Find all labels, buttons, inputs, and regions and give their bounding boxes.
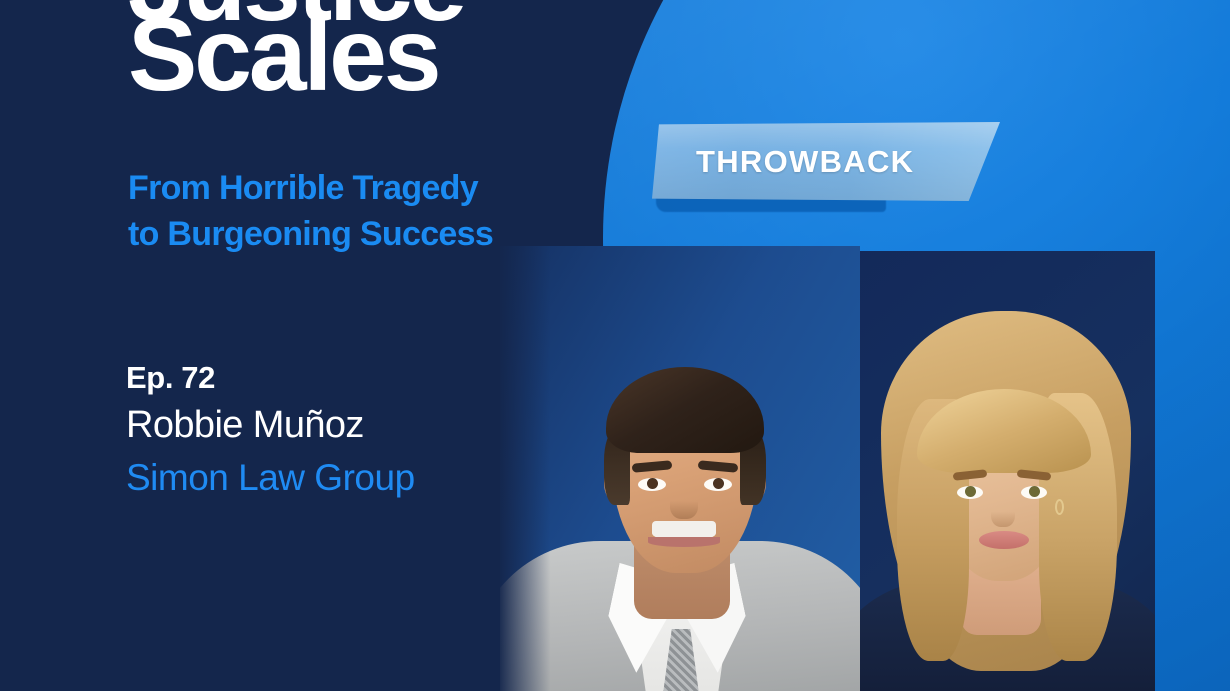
portrait-guest-pupil-right [713, 478, 724, 489]
podcast-episode-cover: Justice Scales From Horrible Tragedy to … [0, 0, 1230, 691]
portrait-cohost-earring [1055, 499, 1064, 515]
portrait-guest-nose [670, 489, 698, 519]
episode-guest-name: Robbie Muñoz [126, 401, 526, 450]
throwback-badge: THROWBACK [652, 122, 1004, 214]
portrait-guest-lower-lip [648, 537, 720, 547]
show-title: Scales [128, 6, 438, 106]
portrait-cohost-pupil-right [1029, 486, 1040, 497]
portrait-cohost-nose [991, 499, 1015, 527]
episode-guest-info: Ep. 72 Robbie Muñoz Simon Law Group [126, 360, 526, 502]
episode-tagline-line-1: From Horrible Tragedy [128, 166, 598, 212]
episode-guest-firm: Simon Law Group [126, 454, 526, 502]
portrait-cohost-pupil-left [965, 486, 976, 497]
throwback-badge-label: THROWBACK [652, 122, 1000, 201]
episode-tagline: From Horrible Tragedy to Burgeoning Succ… [128, 166, 598, 257]
portrait-cohost-lips [979, 531, 1029, 549]
portrait-guest-pupil-left [647, 478, 658, 489]
portrait-guest [500, 246, 860, 691]
portrait-cohost [845, 251, 1155, 691]
episode-tagline-line-2: to Burgeoning Success [128, 212, 598, 258]
episode-number: Ep. 72 [126, 360, 526, 396]
